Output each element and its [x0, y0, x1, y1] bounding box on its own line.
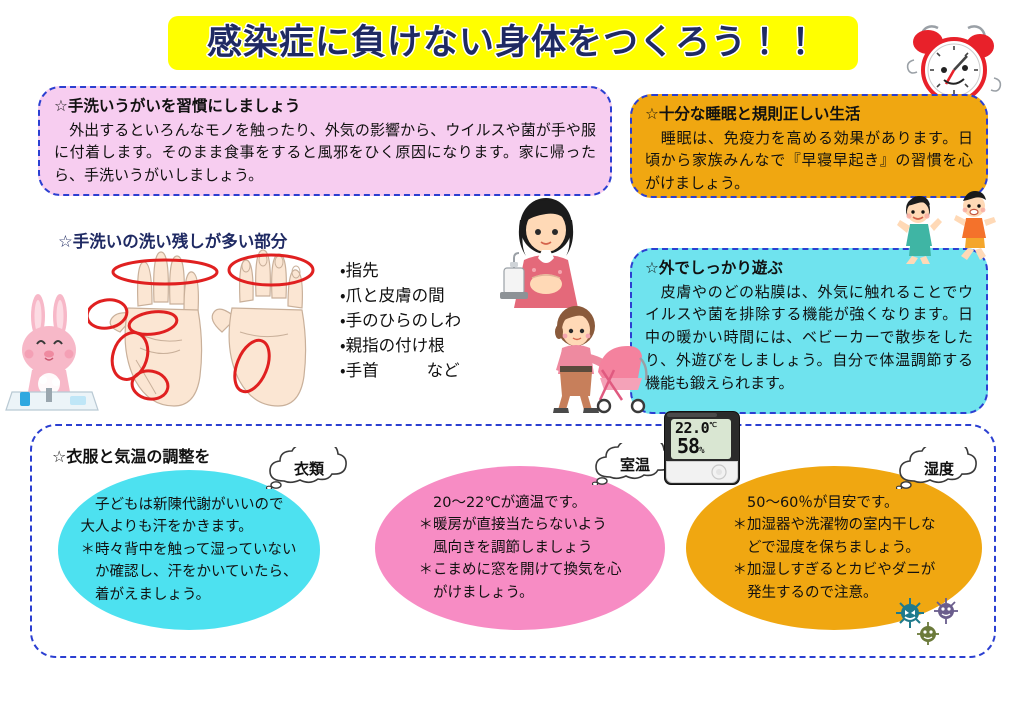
- ellipse-humidity-text: 50〜60％が目安です。 ＊加湿器や洗濯物の室内干しな どで湿度を保ちましょう。…: [723, 492, 946, 604]
- germ-purple: [934, 598, 958, 624]
- text-line: か確認し、汗をかいていたら、: [80, 561, 297, 583]
- text-line: ＊時々背中を触って湿っていない: [80, 539, 297, 561]
- callout-cloud-humidity: 湿度: [896, 447, 982, 489]
- running-children-illustration: [884, 188, 1024, 264]
- text-line: どで湿度を保ちましょう。: [733, 537, 936, 559]
- hands-diagram-illustration: [88, 248, 344, 410]
- text-line: 子どもは新陳代謝がいいので: [80, 494, 297, 516]
- handwash-box-heading: ☆手洗いうがいを習慣にしましょう: [54, 97, 596, 116]
- mother-washing-hands-illustration: [498, 192, 624, 318]
- ellipse-clothes-text: 子どもは新陳代謝がいいので 大人よりも汗をかきます。 ＊時々背中を触って湿ってい…: [70, 494, 307, 606]
- text-line: ＊こまめに窓を開けて換気を心: [419, 559, 622, 581]
- alarm-clock-illustration: [896, 14, 1014, 106]
- callout-cloud-humidity-label: 湿度: [896, 447, 982, 489]
- text-line: がけましょう。: [419, 582, 622, 604]
- callout-cloud-room-label: 室温: [592, 443, 678, 485]
- handwash-box-body: 外出するといろんなモノを触ったり、外気の影響から、ウイルスや菌が手や服に付着しま…: [54, 119, 596, 187]
- callout-cloud-clothes-label: 衣類: [266, 447, 352, 489]
- device-screen: 22.0℃ 58%: [671, 419, 731, 459]
- list-item: ・親指の付け根: [340, 333, 461, 358]
- text-line: ＊加湿器や洗濯物の室内干しな: [733, 514, 936, 536]
- mother-stroller-illustration: [540, 302, 650, 418]
- clothing-box-heading: ☆衣服と気温の調整を: [52, 443, 210, 467]
- text-line: ＊加湿しすぎるとカビやダニが: [733, 559, 936, 581]
- text-line: 大人よりも汗をかきます。: [80, 516, 297, 538]
- sleep-box-body: 睡眠は、免疫力を高める効果があります。日頃から家族みんなで『早寝早起き』の習慣を…: [645, 127, 973, 195]
- device-top-bar: [667, 413, 717, 417]
- list-item: ・指先: [340, 258, 461, 283]
- device-temperature-unit: ℃: [709, 421, 716, 429]
- germ-blue: [896, 598, 924, 628]
- poster-title-banner: 感染症に負けない身体をつくろう！！: [168, 16, 858, 70]
- ellipse-room-text: 20〜22℃が適温です。 ＊暖房が直接当たらないよう 風向きを調節しましょう ＊…: [409, 492, 632, 604]
- list-item: ・手首など: [340, 358, 461, 383]
- handwash-spots-list: ・指先 ・爪と皮膚の間 ・手のひらのしわ ・親指の付け根 ・手首など: [340, 258, 461, 383]
- poster-canvas: 感染症に負けない身体をつくろう！！: [0, 0, 1024, 724]
- list-item: ・手のひらのしわ: [340, 308, 461, 333]
- rabbit-washing-illustration: [4, 292, 102, 416]
- callout-cloud-clothes: 衣類: [266, 447, 352, 489]
- ellipse-clothes: 子どもは新陳代謝がいいので 大人よりも汗をかきます。 ＊時々背中を触って湿ってい…: [58, 470, 320, 630]
- ellipse-room-temperature: 20〜22℃が適温です。 ＊暖房が直接当たらないよう 風向きを調節しましょう ＊…: [375, 466, 665, 630]
- play-box-body: 皮膚やのどの粘膜は、外気に触れることでウイルスや菌を排除する機能が強くなります。…: [645, 281, 973, 395]
- text-line: 50〜60％が目安です。: [733, 492, 936, 514]
- sleep-box-heading: ☆十分な睡眠と規則正しい生活: [645, 105, 973, 124]
- list-item-label: ・手首: [340, 361, 379, 380]
- info-box-handwash: ☆手洗いうがいを習慣にしましょう 外出するといろんなモノを触ったり、外気の影響か…: [38, 86, 612, 196]
- text-line: 着がえましょう。: [80, 584, 297, 606]
- list-item: ・爪と皮膚の間: [340, 283, 461, 308]
- list-item-etc: など: [427, 361, 460, 380]
- device-humidity-value: 58: [677, 434, 699, 458]
- device-humidity-reading: 58%: [677, 434, 704, 458]
- germ-characters-illustration: [888, 594, 980, 646]
- info-box-sleep: ☆十分な睡眠と規則正しい生活 睡眠は、免疫力を高める効果があります。日頃から家族…: [630, 94, 988, 198]
- page-title: 感染症に負けない身体をつくろう！！: [207, 26, 819, 61]
- germ-green: [917, 622, 939, 645]
- info-box-play-outside: ☆外でしっかり遊ぶ 皮膚やのどの粘膜は、外気に触れることでウイルスや菌を排除する…: [630, 248, 988, 414]
- callout-cloud-room: 室温: [592, 443, 678, 485]
- text-line: 風向きを調節しましょう: [419, 537, 622, 559]
- device-humidity-unit: %: [699, 446, 703, 456]
- text-line: ＊暖房が直接当たらないよう: [419, 514, 622, 536]
- text-line: 20〜22℃が適温です。: [419, 492, 622, 514]
